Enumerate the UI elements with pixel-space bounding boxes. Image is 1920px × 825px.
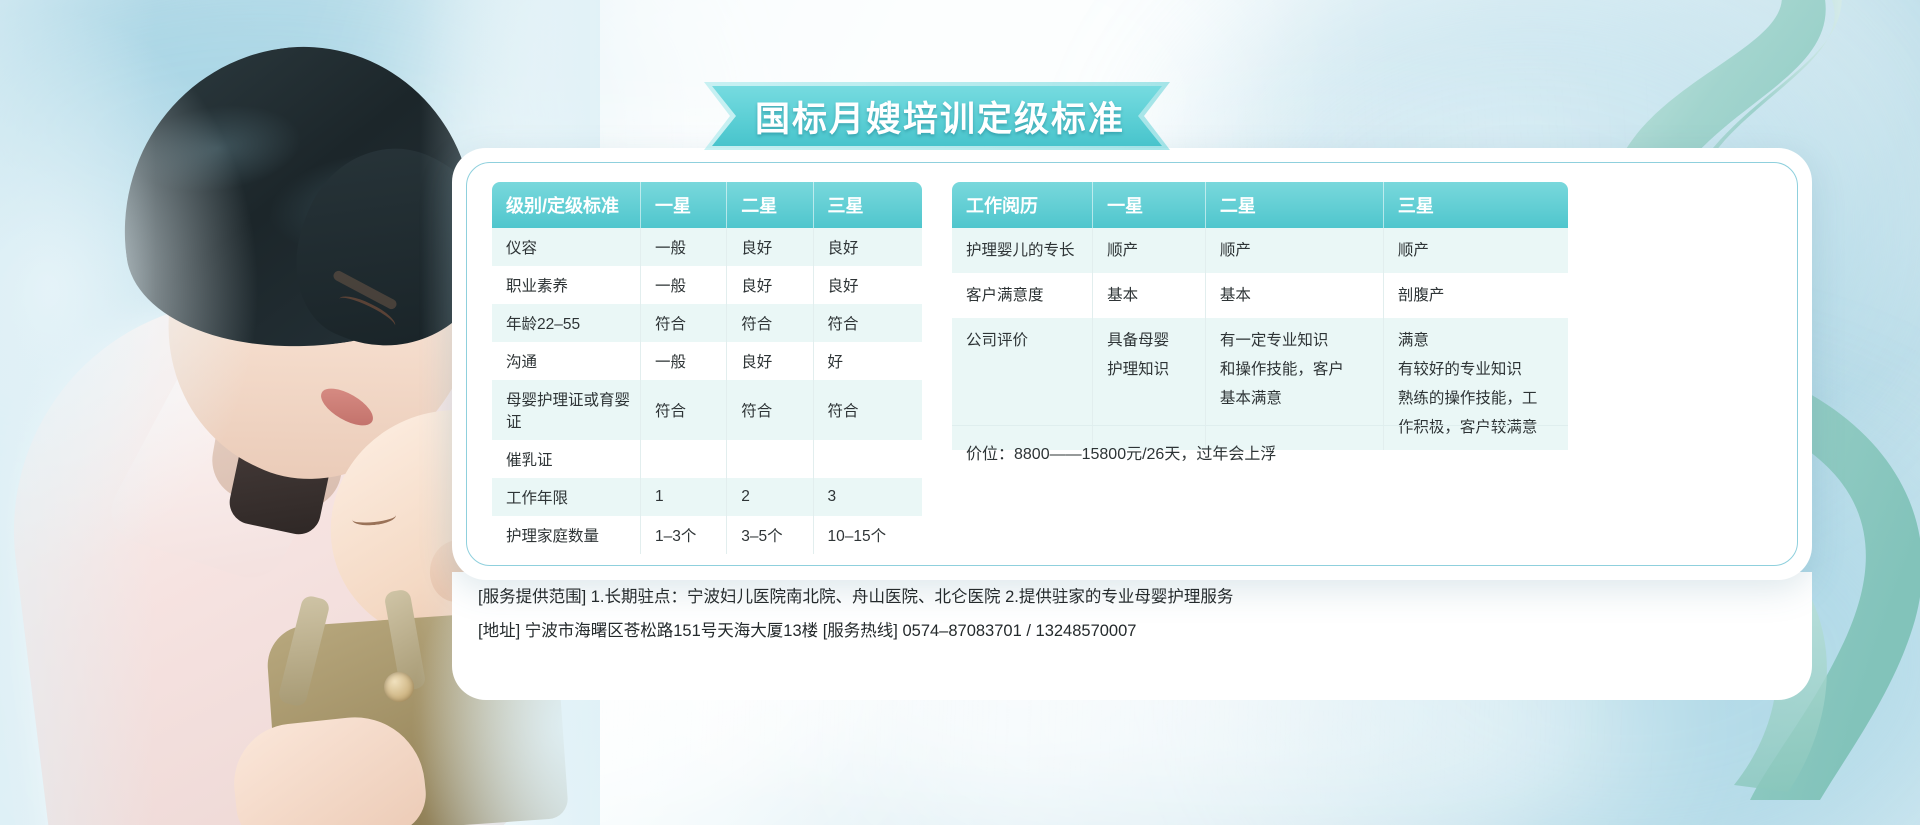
cell-line: 公司评价 xyxy=(966,326,1092,355)
cell-line: 护理知识 xyxy=(1107,355,1205,384)
cell-one-star: 符合 xyxy=(641,304,727,342)
cell-line: 具备母婴 xyxy=(1107,326,1205,355)
cell-line: 和操作技能，客户 xyxy=(1220,355,1383,384)
column-header-one-star: 一星 xyxy=(1093,182,1206,228)
title-banner: 国标月嫂培训定级标准 xyxy=(700,80,1180,152)
cell-two-star: 符合 xyxy=(727,380,813,440)
cell-two-star xyxy=(727,440,813,478)
address-hotline-line: [地址] 宁波市海曙区苍松路151号天海大厦13楼 [服务热线] 0574–87… xyxy=(478,614,1778,648)
table-header-row: 级别/定级标准 一星 二星 三星 xyxy=(492,182,922,228)
cell-line: 满意 xyxy=(1398,326,1568,355)
column-header-experience: 工作阅历 xyxy=(952,182,1093,228)
cell-line: 基本满意 xyxy=(1220,384,1383,413)
footer-info: [服务提供范围] 1.长期驻点：宁波妇儿医院南北院、舟山医院、北仑医院 2.提供… xyxy=(478,580,1778,648)
cell-criteria: 仪容 xyxy=(492,228,641,266)
table-header-row: 工作阅历 一星 二星 三星 xyxy=(952,182,1568,228)
cell-three-star: 3 xyxy=(813,478,922,516)
table-row: 沟通一般良好好 xyxy=(492,342,922,380)
column-header-two-star: 二星 xyxy=(727,182,813,228)
cell-two-star: 2 xyxy=(727,478,813,516)
cell-two-star: 良好 xyxy=(727,266,813,304)
cell-line: 熟练的操作技能，工 xyxy=(1398,384,1568,413)
price-note: 价位：8800——15800元/26天，过年会上浮 xyxy=(952,425,1568,464)
cell-one-star: 1 xyxy=(641,478,727,516)
cell-one-star: 一般 xyxy=(641,228,727,266)
column-header-three-star: 三星 xyxy=(813,182,922,228)
table-row: 年龄22–55符合符合符合 xyxy=(492,304,922,342)
cell-two-star: 3–5个 xyxy=(727,516,813,554)
table-row: 母婴护理证或育婴证符合符合符合 xyxy=(492,380,922,440)
cell-two-star: 基本 xyxy=(1205,273,1383,318)
cell-three-star: 符合 xyxy=(813,304,922,342)
cell-three-star: 良好 xyxy=(813,228,922,266)
cell-three-star: 符合 xyxy=(813,380,922,440)
cell-experience: 客户满意度 xyxy=(952,273,1093,318)
cell-two-star: 顺产 xyxy=(1205,228,1383,273)
cell-experience: 护理婴儿的专长 xyxy=(952,228,1093,273)
table-row: 职业素养一般良好良好 xyxy=(492,266,922,304)
cell-criteria: 年龄22–55 xyxy=(492,304,641,342)
table-row: 工作年限123 xyxy=(492,478,922,516)
banner-title: 国标月嫂培训定级标准 xyxy=(700,80,1180,152)
table-row: 仪容一般良好良好 xyxy=(492,228,922,266)
cell-one-star xyxy=(641,440,727,478)
cell-criteria: 护理家庭数量 xyxy=(492,516,641,554)
cell-line: 有较好的专业知识 xyxy=(1398,355,1568,384)
cell-two-star: 良好 xyxy=(727,342,813,380)
grading-standards-table: 级别/定级标准 一星 二星 三星 仪容一般良好良好 职业素养一般良好良好 年龄2… xyxy=(492,182,922,554)
cell-criteria: 职业素养 xyxy=(492,266,641,304)
cell-one-star: 基本 xyxy=(1093,273,1206,318)
cell-two-star: 符合 xyxy=(727,304,813,342)
cell-one-star: 顺产 xyxy=(1093,228,1206,273)
service-scope-line: [服务提供范围] 1.长期驻点：宁波妇儿医院南北院、舟山医院、北仑医院 2.提供… xyxy=(478,580,1778,614)
cell-three-star: 良好 xyxy=(813,266,922,304)
column-header-one-star: 一星 xyxy=(641,182,727,228)
cell-criteria: 工作年限 xyxy=(492,478,641,516)
price-note-text: 价位：8800——15800元/26天，过年会上浮 xyxy=(952,446,1276,463)
cell-one-star: 一般 xyxy=(641,342,727,380)
cell-line: 有一定专业知识 xyxy=(1220,326,1383,355)
table-row: 催乳证 xyxy=(492,440,922,478)
cell-three-star: 好 xyxy=(813,342,922,380)
cell-three-star xyxy=(813,440,922,478)
cell-criteria: 沟通 xyxy=(492,342,641,380)
table-row: 护理家庭数量1–3个3–5个10–15个 xyxy=(492,516,922,554)
photo-romper-button xyxy=(384,672,414,702)
table-row: 护理婴儿的专长顺产顺产顺产 xyxy=(952,228,1568,273)
cell-one-star: 1–3个 xyxy=(641,516,727,554)
work-experience-table: 工作阅历 一星 二星 三星 护理婴儿的专长顺产顺产顺产 客户满意度基本基本剖腹产… xyxy=(952,182,1568,450)
cell-three-star: 剖腹产 xyxy=(1383,273,1568,318)
column-header-three-star: 三星 xyxy=(1383,182,1568,228)
table-row: 客户满意度基本基本剖腹产 xyxy=(952,273,1568,318)
cell-two-star: 良好 xyxy=(727,228,813,266)
column-header-criteria: 级别/定级标准 xyxy=(492,182,641,228)
cell-one-star: 一般 xyxy=(641,266,727,304)
cell-three-star: 顺产 xyxy=(1383,228,1568,273)
cell-criteria: 催乳证 xyxy=(492,440,641,478)
column-header-two-star: 二星 xyxy=(1205,182,1383,228)
cell-three-star: 10–15个 xyxy=(813,516,922,554)
cell-one-star: 符合 xyxy=(641,380,727,440)
cell-criteria: 母婴护理证或育婴证 xyxy=(492,380,641,440)
